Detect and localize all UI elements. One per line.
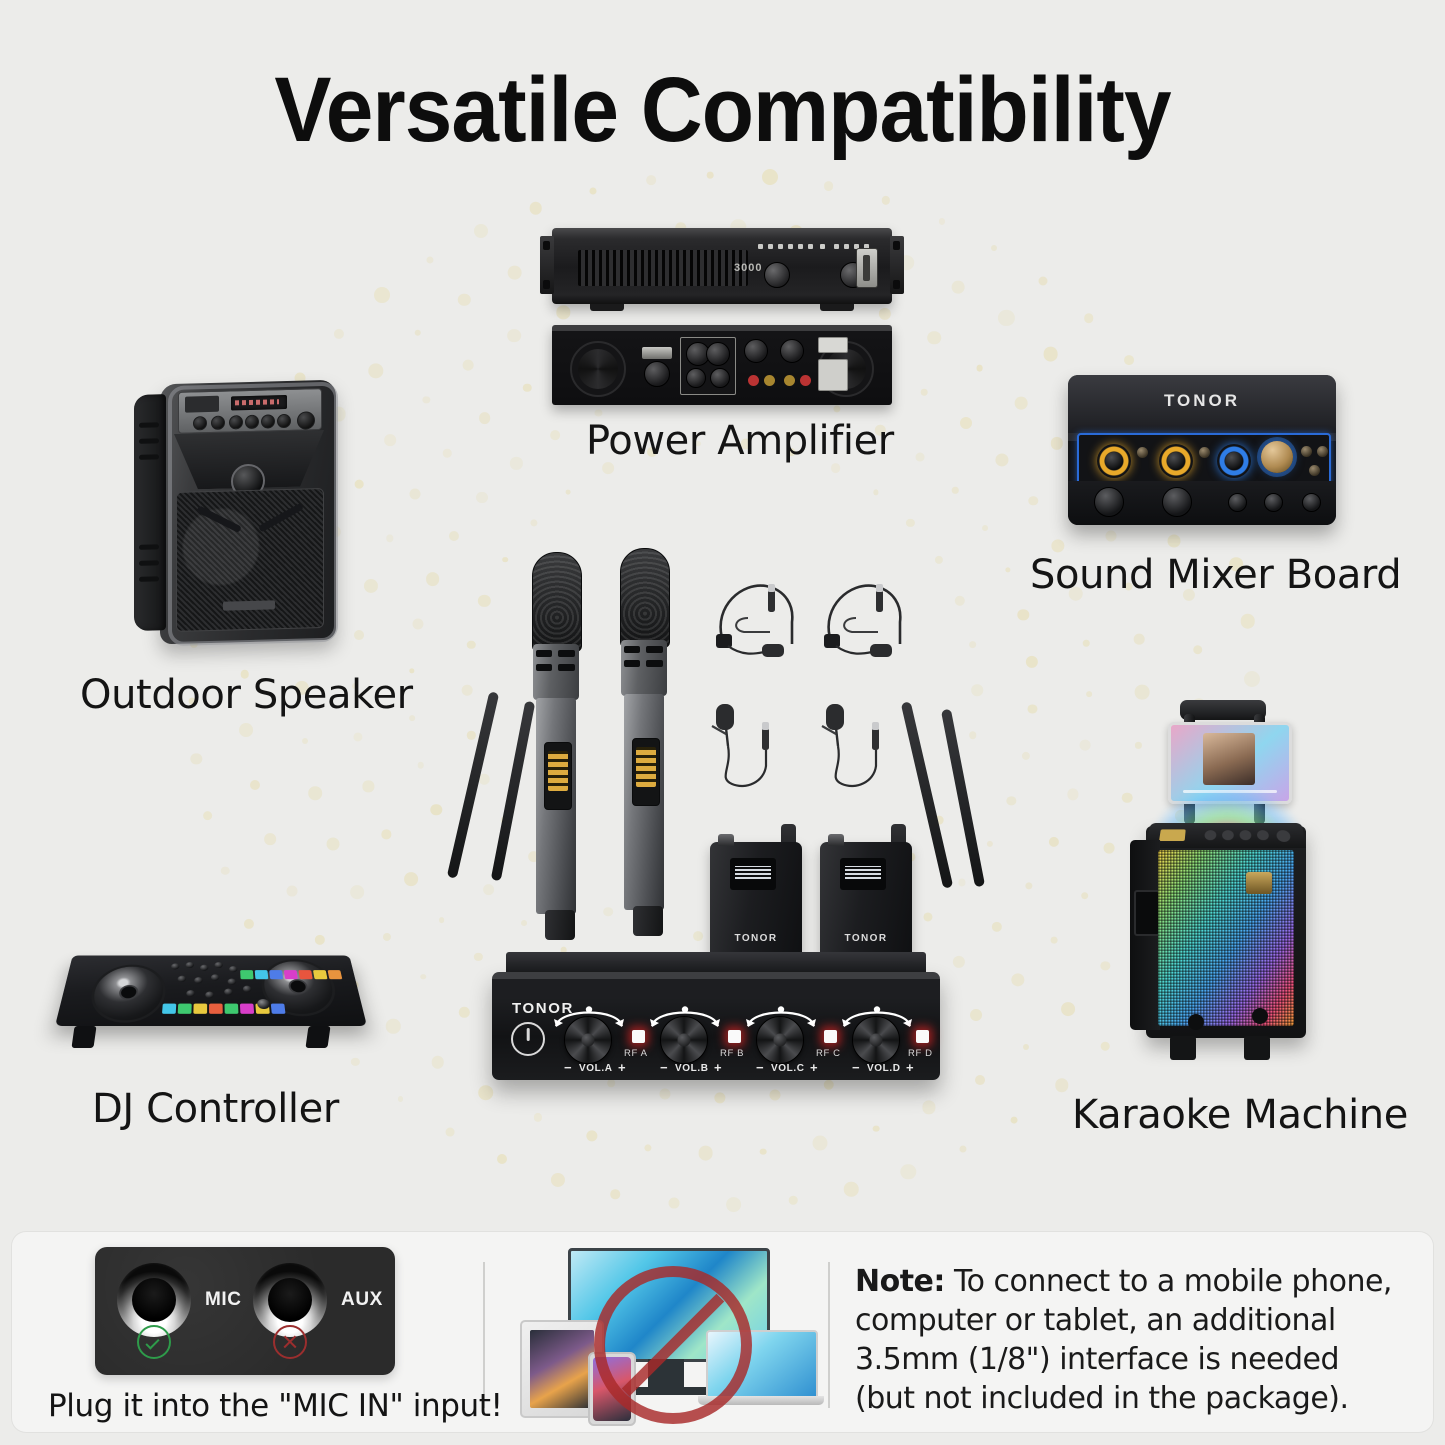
mic-grille-1 [532,552,582,652]
background-dot [669,1197,680,1208]
background-dot [521,920,527,926]
background-dot [458,294,470,306]
background-dot [551,1172,565,1186]
knob-arc-c [742,1002,820,1028]
background-dot [353,732,362,741]
background-dot [1086,691,1092,697]
background-dot [1167,534,1180,547]
background-dot [1043,347,1058,362]
background-dot [916,453,925,462]
background-dot [1081,892,1089,900]
speaker-control-panel [178,388,322,434]
background-dot [415,330,422,337]
knob-arc-d [838,1002,916,1028]
mic-collar-2 [621,640,667,696]
cooling-fan-left [570,341,626,397]
background-dot [382,830,391,839]
background-dot [969,641,977,649]
background-dot [921,389,928,396]
background-dot [726,1197,742,1213]
background-dot [762,169,778,185]
mixer-rear-ports [1068,481,1336,525]
background-dot [445,1127,454,1136]
power-amplifier-rear [552,325,892,405]
mixer-front-panel [1077,433,1331,487]
carry-handle [1134,890,1160,936]
background-dot [952,487,958,493]
vol-label-d: VOL.D [867,1063,901,1074]
background-dot [264,834,276,846]
vol-minus-a[interactable]: − [564,1060,572,1075]
background-dot [1106,530,1117,541]
amplifier-model-badge: 3000 [734,262,762,274]
headset-microphone-2 [816,572,908,664]
background-dot [595,409,602,416]
background-dot [463,360,474,371]
background-dot [1067,789,1078,800]
background-dot [351,1058,359,1066]
background-dot [1079,739,1090,750]
background-dot [383,932,391,940]
background-dot [404,872,418,886]
background-dot [483,884,495,896]
mic-body-1 [536,698,576,914]
background-dot [844,1182,859,1197]
outdoor-speaker [160,382,336,642]
background-dot [707,172,714,179]
background-dot [589,187,596,194]
background-dot [1244,671,1260,687]
vol-label-a: VOL.A [579,1063,613,1074]
background-dot [927,331,941,345]
background-dot [1104,843,1115,854]
background-dot [413,619,424,630]
vol-label-b: VOL.B [675,1063,709,1074]
background-dot [191,753,202,764]
power-amplifier-front: 3000 [552,228,892,304]
background-dot [906,519,914,527]
amplifier-knob-left [764,262,790,288]
background-dot [462,685,473,696]
background-dot [550,430,560,440]
mic-line-in-1 [1094,487,1124,517]
rgb-led-grille [1158,850,1294,1026]
jog-wheel-left [86,965,168,1023]
background-dot [1023,1044,1029,1050]
mic-body-2 [624,694,664,910]
rf-label-a: RF A [624,1048,648,1059]
lavalier-microphone-2 [812,700,886,796]
background-dot [975,1075,985,1085]
background-dot [1039,276,1048,285]
aux-not-allowed-icon [273,1325,307,1359]
power-amplifier-label: Power Amplifier [586,418,894,464]
lavalier-microphone-1 [702,700,776,796]
background-dot [398,1096,404,1102]
speakon-panel [680,337,736,395]
vol-plus-d[interactable]: + [906,1060,914,1075]
background-dot [523,384,531,392]
rf-indicator-b [728,1030,741,1043]
background-dot [1051,937,1058,944]
background-dot [1101,1042,1110,1051]
card-divider-2 [828,1262,830,1408]
background-dot [355,480,364,489]
bodypack-transmitter-2: TONOR [820,828,912,960]
background-dot [645,1144,652,1151]
speakon-b [780,339,804,363]
album-art [1203,733,1255,785]
mic-grille-2 [620,548,670,648]
mic-display-1 [544,742,572,810]
bodypack-brand-2: TONOR [820,933,912,944]
speaker-grille [176,488,324,632]
background-dot [873,490,878,495]
background-dot [1028,704,1037,713]
background-dot [971,684,983,696]
background-dot [1134,634,1145,645]
background-dot [530,520,537,527]
background-dot [239,723,253,737]
background-dot [354,630,364,640]
background-dot [476,492,488,504]
background-dot [659,1089,670,1100]
background-dot [203,811,213,821]
background-dot [474,952,482,960]
background-dot [1055,1079,1068,1092]
background-dot [467,731,475,739]
background-dot [566,490,571,495]
background-dot [557,306,570,319]
background-dot [831,464,841,474]
rack-ear-right [890,236,904,294]
background-dot [607,1080,615,1088]
background-dot [459,1007,469,1017]
background-dot [302,738,308,744]
background-dot [1014,397,1027,410]
background-dot [602,463,614,475]
background-dot [497,1154,507,1164]
background-dot [420,974,426,980]
background-dot [586,1130,597,1141]
karaoke-logo-badge [1246,872,1272,894]
background-dot [998,310,1014,326]
background-dot [309,787,323,801]
rf-indicator-d [916,1030,929,1043]
rf-indicator-a [632,1030,645,1043]
background-dot [879,308,891,320]
background-dot [604,907,614,917]
background-dot [1011,973,1024,986]
vol-minus-b[interactable]: − [660,1060,668,1075]
rf-label-c: RF C [816,1048,841,1059]
bodypack-brand-1: TONOR [710,933,802,944]
background-dot [423,396,430,403]
amplifier-vents [578,250,748,286]
mic-collar-1 [533,644,579,700]
background-dot [474,224,488,238]
background-dot [368,363,383,378]
handheld-microphone-1 [532,552,580,952]
vol-minus-d[interactable]: − [852,1060,860,1075]
background-dot [882,196,890,204]
background-dot [350,885,364,899]
background-dot [939,218,945,224]
aux-jack-label: AUX [341,1289,383,1311]
unsupported-devices-illustration [520,1248,810,1418]
performance-pads-right [240,970,342,979]
output-jack-a [1228,493,1247,512]
background-dot [1007,797,1016,806]
speaker-display [231,395,287,410]
headset-microphone-1 [708,572,800,664]
amplifier-power-switch [856,248,878,288]
background-dot [533,1113,541,1121]
background-dot [374,287,390,303]
background-dot [1051,437,1063,449]
background-dot [1018,609,1029,620]
background-dot [244,918,254,928]
rf-indicator-c [824,1030,837,1043]
background-dot [952,281,965,294]
outdoor-speaker-label: Outdoor Speaker [80,672,413,718]
rf-label-d: RF D [908,1048,933,1059]
background-dot [1049,837,1059,847]
background-dot [813,1136,828,1151]
background-dot [384,434,396,446]
background-dot [1101,961,1110,970]
background-dot [1028,496,1037,505]
karaoke-machine [1128,700,1324,1060]
prohibited-icon [594,1266,752,1424]
xlr-input [644,361,670,387]
background-dot [1005,567,1010,572]
background-dot [479,412,491,424]
background-dot [502,557,508,563]
background-dot [960,417,972,429]
background-dot [439,917,445,923]
page-title: Versatile Compatibility [51,58,1395,163]
infographic-canvas: Versatile Compatibility 3000 [0,0,1445,1445]
background-dot [611,1190,621,1200]
power-button[interactable] [511,1022,545,1056]
karaoke-machine-label: Karaoke Machine [1072,1092,1408,1138]
background-dot [431,804,442,815]
monitor-jack [1302,493,1321,512]
background-dot [958,879,965,886]
bodypack-display-1 [730,858,776,890]
bodypack-connector-2 [828,834,844,846]
rack-ear-left [540,236,554,294]
background-dot [833,406,840,413]
mic-display-2 [632,738,660,806]
background-dot [363,781,374,792]
background-dot [1061,1002,1075,1016]
background-dot [287,886,298,897]
jack-panel-caption: Plug it into the "MIC IN" input! [48,1388,444,1424]
background-dot [410,488,421,499]
background-dot [1011,1116,1018,1123]
background-dot [449,531,459,541]
background-dot [955,595,965,605]
note-text: Note: To connect to a mobile phone, comp… [855,1262,1395,1418]
background-dot [760,1148,767,1155]
bodypack-display-2 [840,858,886,890]
background-dot [1193,645,1203,655]
background-dot [334,329,344,339]
vol-label-c: VOL.C [771,1063,805,1074]
background-dot [507,265,522,280]
mic-jack-label: MIC [205,1289,242,1311]
background-dot [923,1101,936,1114]
bodypack-transmitter-1: TONOR [710,828,802,960]
background-dot [823,1079,834,1090]
handheld-microphone-2 [620,548,668,948]
mixer-brand: TONOR [1068,391,1336,411]
rf-label-b: RF B [720,1048,744,1059]
background-dot [1026,655,1038,667]
background-dot [991,245,997,251]
background-dot [873,1125,880,1132]
background-dot [698,1146,713,1161]
background-dot [824,181,834,191]
background-dot [959,1145,966,1152]
background-dot [443,449,451,457]
background-dot [1084,313,1094,323]
background-dot [1083,640,1089,646]
sound-mixer-board-label: Sound Mixer Board [1030,552,1401,598]
background-dot [987,841,993,847]
background-dot [953,956,965,968]
background-dot [417,762,424,769]
background-dot [507,329,521,343]
background-dot [935,556,943,564]
background-dot [221,866,230,875]
background-dot [970,1009,982,1021]
bodypack-connector-1 [718,834,734,846]
speaker-side-panel [134,394,166,631]
karaoke-control-panel [1146,823,1306,848]
background-dot [1240,614,1255,629]
background-dot [386,535,393,542]
mic-line-in-2 [1162,487,1192,517]
background-dot [326,838,339,851]
background-dot [426,572,440,586]
background-dot [969,732,976,739]
wireless-receiver: TONOR RF A − VOL.A + RF B − VOL.B + RF C… [492,972,940,1080]
background-dot [1025,883,1032,890]
background-dot [923,912,932,921]
background-dot [426,257,433,264]
background-dot [364,579,378,593]
dj-controller [55,930,367,1048]
background-dot [250,780,260,790]
speakon-a [744,339,768,363]
background-dot [789,1196,798,1205]
knob-arc-b [646,1002,724,1028]
output-jack-b [1264,493,1283,512]
background-dot [479,774,490,785]
vol-plus-a[interactable]: + [618,1060,626,1075]
background-dot [996,453,1009,466]
background-dot [467,640,475,648]
note-prefix: Note: [855,1264,945,1299]
background-dot [431,1056,444,1069]
dj-controller-label: DJ Controller [92,1086,339,1132]
background-dot [976,364,983,371]
background-dot [1135,685,1150,700]
vol-plus-b[interactable]: + [714,1060,722,1075]
background-dot [714,1092,725,1103]
background-dot [992,921,1002,931]
background-dot [1051,539,1064,552]
background-dot [478,594,490,606]
jack-panel: MIC AUX [95,1247,395,1375]
background-dot [1021,752,1029,760]
sound-mixer-board: TONOR [1068,375,1336,525]
background-dot [386,1019,401,1034]
knob-arc-a [550,1002,628,1028]
card-divider-1 [483,1262,485,1408]
mic-allowed-icon [137,1325,171,1359]
background-dot [478,1085,494,1101]
background-dot [530,202,543,215]
vol-minus-c[interactable]: − [756,1060,764,1075]
background-dot [510,457,522,469]
background-dot [982,525,988,531]
background-dot [900,1164,915,1179]
background-dot [646,175,656,185]
vol-plus-c[interactable]: + [810,1060,818,1075]
background-dot [1124,355,1134,365]
background-dot [694,932,704,942]
background-dot [769,1089,780,1100]
